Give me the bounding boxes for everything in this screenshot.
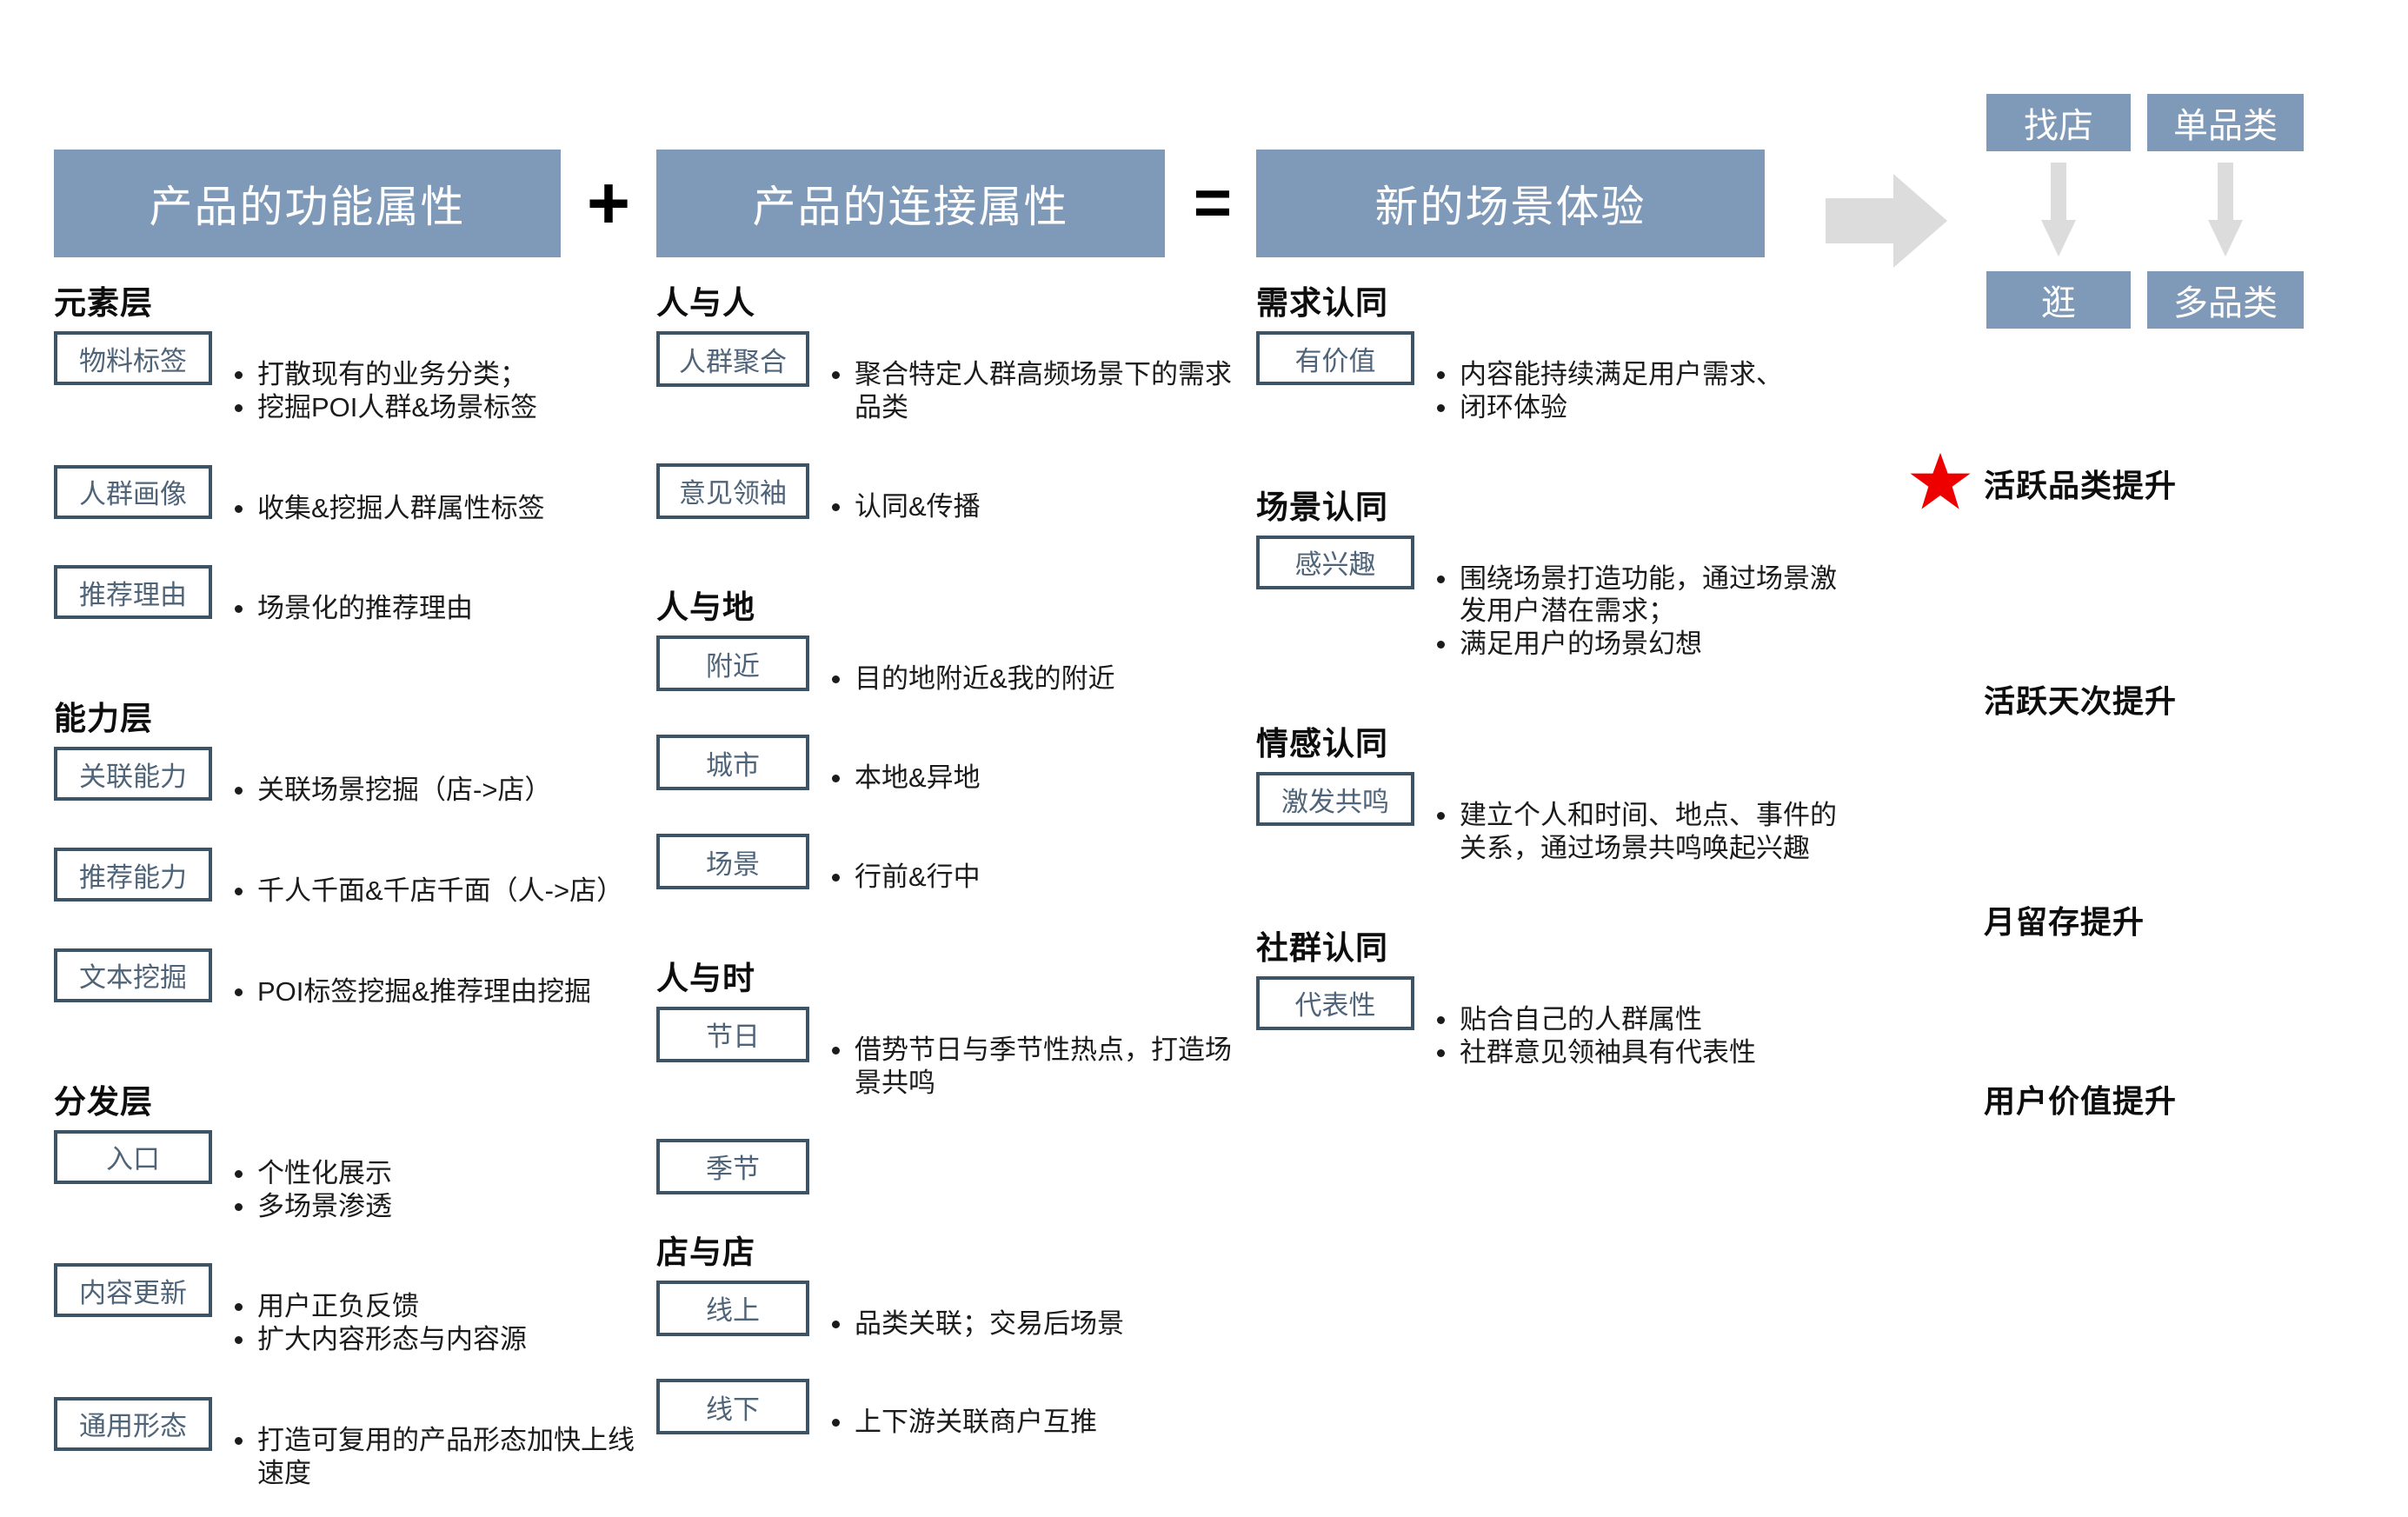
bullet-list: POI标签挖掘&推荐理由挖掘 xyxy=(228,975,591,1008)
attribute-row: 意见领袖认同&传播 xyxy=(656,463,1256,550)
tag-box[interactable]: 感兴趣 xyxy=(1256,536,1414,589)
bullet-list: 场景化的推荐理由 xyxy=(228,592,473,625)
bullet-list: 建立个人和时间、地点、事件的关系，通过场景共鸣唤起兴趣 xyxy=(1430,799,1856,865)
section-experience-0: 需求认同有价值内容能持续满足用户需求、闭环体验 xyxy=(1256,287,1856,451)
banner-new-scene-experience: 新的场景体验 xyxy=(1256,150,1765,257)
section-title: 情感认同 xyxy=(1256,728,1856,760)
diagram-canvas: 产品的功能属性 + 产品的连接属性 = 新的场景体验 元素层物料标签打散现有的业… xyxy=(0,0,2408,1328)
outcome-user-value-uplift: 用户价值提升 xyxy=(1984,1076,2177,1121)
attribute-row: 入口个性化展示多场景渗透 xyxy=(54,1130,654,1250)
section-experience-1: 场景认同感兴趣围绕场景打造功能，通过场景激发用户潜在需求；满足用户的场景幻想 xyxy=(1256,491,1856,688)
attribute-row: 城市本地&异地 xyxy=(656,735,1256,822)
attribute-row: 文本挖掘POI标签挖掘&推荐理由挖掘 xyxy=(54,948,654,1035)
bullet-item: 个性化展示 xyxy=(228,1157,392,1190)
tag-box[interactable]: 通用形态 xyxy=(54,1397,212,1451)
bullet-list: 内容能持续满足用户需求、闭环体验 xyxy=(1430,358,1783,424)
tag-box[interactable]: 人群画像 xyxy=(54,465,212,519)
flow-box-find-store[interactable]: 找店 xyxy=(1986,94,2131,151)
tag-box[interactable]: 有价值 xyxy=(1256,331,1414,385)
attribute-row: 线上品类关联；交易后场景 xyxy=(656,1281,1256,1367)
bullet-item: 满足用户的场景幻想 xyxy=(1430,628,1856,661)
down-arrow-icon-single-category xyxy=(2208,163,2243,256)
tag-box[interactable]: 人群聚合 xyxy=(656,331,809,387)
section-title: 人与时 xyxy=(656,962,1256,995)
attribute-row: 人群聚合聚合特定人群高频场景下的需求品类 xyxy=(656,331,1256,451)
attribute-row: 线下上下游关联商户互推 xyxy=(656,1379,1256,1466)
bullet-item: 社群意见领袖具有代表性 xyxy=(1430,1036,1756,1069)
attribute-row: 推荐能力千人千面&千店千面（人->店） xyxy=(54,848,654,935)
section-title: 需求认同 xyxy=(1256,287,1856,319)
bullet-item: 本地&异地 xyxy=(825,762,981,795)
tag-box[interactable]: 城市 xyxy=(656,735,809,790)
section-title: 店与店 xyxy=(656,1236,1256,1268)
column-connection-attribute: 人与人人群聚合聚合特定人群高频场景下的需求品类意见领袖认同&传播人与地附近目的地… xyxy=(656,287,1256,1466)
attribute-row: 感兴趣围绕场景打造功能，通过场景激发用户潜在需求；满足用户的场景幻想 xyxy=(1256,536,1856,688)
section-connection-1: 人与地附近目的地附近&我的附近城市本地&异地场景行前&行中 xyxy=(656,591,1256,920)
bullet-item: 千人千面&千店千面（人->店） xyxy=(228,875,623,908)
bullet-item: 收集&挖掘人群属性标签 xyxy=(228,492,545,525)
tag-box[interactable]: 文本挖掘 xyxy=(54,948,212,1002)
tag-box[interactable]: 推荐能力 xyxy=(54,848,212,902)
bullet-item: 内容能持续满足用户需求、 xyxy=(1430,358,1783,391)
bullet-list: 打散现有的业务分类；挖掘POI人群&场景标签 xyxy=(228,358,537,424)
tag-box[interactable]: 代表性 xyxy=(1256,976,1414,1030)
section-connection-2: 人与时节日借势节日与季节性热点，打造场景共鸣季节 xyxy=(656,962,1256,1194)
attribute-row: 附近目的地附近&我的附近 xyxy=(656,635,1256,722)
bullet-item: 行前&行中 xyxy=(825,861,981,894)
bullet-list: 收集&挖掘人群属性标签 xyxy=(228,492,545,525)
tag-box[interactable]: 关联能力 xyxy=(54,747,212,801)
attribute-row: 内容更新用户正负反馈扩大内容形态与内容源 xyxy=(54,1263,654,1383)
column-functional-attribute: 元素层物料标签打散现有的业务分类；挖掘POI人群&场景标签人群画像收集&挖掘人群… xyxy=(54,287,654,1517)
bullet-list: 围绕场景打造功能，通过场景激发用户潜在需求；满足用户的场景幻想 xyxy=(1430,562,1856,661)
red-star-icon xyxy=(1909,450,1972,513)
bullet-item: 关联场景挖掘（店->店） xyxy=(228,774,551,807)
section-functional-1: 能力层关联能力关联场景挖掘（店->店）推荐能力千人千面&千店千面（人->店）文本… xyxy=(54,702,654,1035)
bullet-list: 本地&异地 xyxy=(825,762,981,795)
bullet-list: 用户正负反馈扩大内容形态与内容源 xyxy=(228,1290,527,1356)
banner-functional-label: 产品的功能属性 xyxy=(150,172,466,235)
bullet-item: POI标签挖掘&推荐理由挖掘 xyxy=(228,975,591,1008)
attribute-row: 关联能力关联场景挖掘（店->店） xyxy=(54,747,654,834)
tag-box[interactable]: 入口 xyxy=(54,1130,212,1184)
bullet-item: 贴合自己的人群属性 xyxy=(1430,1003,1756,1036)
outcome-monthly-retention-uplift: 月留存提升 xyxy=(1984,897,2145,942)
bullet-item: 闭环体验 xyxy=(1430,391,1783,424)
section-title: 场景认同 xyxy=(1256,491,1856,523)
bullet-list: 借势节日与季节性热点，打造场景共鸣 xyxy=(825,1034,1256,1100)
banner-functional-attribute: 产品的功能属性 xyxy=(54,150,561,257)
bullet-list: 目的地附近&我的附近 xyxy=(825,662,1115,695)
tag-box[interactable]: 节日 xyxy=(656,1007,809,1062)
bullet-list: 上下游关联商户互推 xyxy=(825,1406,1097,1439)
section-title: 社群认同 xyxy=(1256,932,1856,964)
right-arrow-icon xyxy=(1826,174,1947,268)
tag-box[interactable]: 线上 xyxy=(656,1281,809,1336)
tag-box[interactable]: 附近 xyxy=(656,635,809,691)
section-title: 分发层 xyxy=(54,1086,654,1118)
down-arrow-icon-find-store xyxy=(2041,163,2076,256)
bullet-item: 聚合特定人群高频场景下的需求品类 xyxy=(825,358,1256,424)
bullet-item: 品类关联；交易后场景 xyxy=(825,1307,1124,1341)
tag-box[interactable]: 推荐理由 xyxy=(54,565,212,619)
attribute-row: 推荐理由场景化的推荐理由 xyxy=(54,565,654,652)
tag-box[interactable]: 物料标签 xyxy=(54,331,212,385)
bullet-list: 认同&传播 xyxy=(825,490,981,523)
flow-box-browse[interactable]: 逛 xyxy=(1986,271,2131,329)
bullet-list: 贴合自己的人群属性社群意见领袖具有代表性 xyxy=(1430,1003,1756,1069)
bullet-item: 认同&传播 xyxy=(825,490,981,523)
bullet-list: 关联场景挖掘（店->店） xyxy=(228,774,551,807)
bullet-item: 借势节日与季节性热点，打造场景共鸣 xyxy=(825,1034,1256,1100)
flow-box-multi-category[interactable]: 多品类 xyxy=(2147,271,2304,329)
attribute-row: 场景行前&行中 xyxy=(656,834,1256,921)
banner-connection-attribute: 产品的连接属性 xyxy=(656,150,1165,257)
section-title: 人与人 xyxy=(656,287,1256,319)
attribute-row: 有价值内容能持续满足用户需求、闭环体验 xyxy=(1256,331,1856,451)
tag-box[interactable]: 季节 xyxy=(656,1139,809,1194)
bullet-item: 打造可复用的产品形态加快上线速度 xyxy=(228,1424,654,1490)
attribute-row: 人群画像收集&挖掘人群属性标签 xyxy=(54,465,654,552)
outcome-active-category-uplift: 活跃品类提升 xyxy=(1984,461,2177,506)
tag-box[interactable]: 线下 xyxy=(656,1379,809,1434)
section-title: 人与地 xyxy=(656,591,1256,623)
section-functional-0: 元素层物料标签打散现有的业务分类；挖掘POI人群&场景标签人群画像收集&挖掘人群… xyxy=(54,287,654,652)
attribute-row: 物料标签打散现有的业务分类；挖掘POI人群&场景标签 xyxy=(54,331,654,451)
banner-connection-label: 产品的连接属性 xyxy=(753,172,1069,235)
tag-box[interactable]: 内容更新 xyxy=(54,1263,212,1317)
bullet-item: 目的地附近&我的附近 xyxy=(825,662,1115,695)
flow-box-single-category[interactable]: 单品类 xyxy=(2147,94,2304,151)
bullet-list: 个性化展示多场景渗透 xyxy=(228,1157,392,1223)
tag-box[interactable]: 场景 xyxy=(656,834,809,889)
column-new-scene-experience: 需求认同有价值内容能持续满足用户需求、闭环体验场景认同感兴趣围绕场景打造功能，通… xyxy=(1256,287,1856,1095)
bullet-item: 场景化的推荐理由 xyxy=(228,592,473,625)
attribute-row: 通用形态打造可复用的产品形态加快上线速度 xyxy=(54,1397,654,1517)
section-functional-2: 分发层入口个性化展示多场景渗透内容更新用户正负反馈扩大内容形态与内容源通用形态打… xyxy=(54,1086,654,1517)
tag-box[interactable]: 激发共鸣 xyxy=(1256,772,1414,826)
section-experience-2: 情感认同激发共鸣建立个人和时间、地点、事件的关系，通过场景共鸣唤起兴趣 xyxy=(1256,728,1856,892)
bullet-list: 行前&行中 xyxy=(825,861,981,894)
attribute-row: 激发共鸣建立个人和时间、地点、事件的关系，通过场景共鸣唤起兴趣 xyxy=(1256,772,1856,892)
section-connection-0: 人与人人群聚合聚合特定人群高频场景下的需求品类意见领袖认同&传播 xyxy=(656,287,1256,549)
bullet-list: 打造可复用的产品形态加快上线速度 xyxy=(228,1424,654,1490)
bullet-item: 多场景渗透 xyxy=(228,1190,392,1223)
bullet-list: 聚合特定人群高频场景下的需求品类 xyxy=(825,358,1256,424)
equals-operator-icon: = xyxy=(1178,170,1247,236)
attribute-row: 节日借势节日与季节性热点，打造场景共鸣 xyxy=(656,1007,1256,1127)
bullet-list: 千人千面&千店千面（人->店） xyxy=(228,875,623,908)
section-title: 元素层 xyxy=(54,287,654,319)
outcome-active-days-uplift: 活跃天次提升 xyxy=(1984,676,2177,722)
tag-box[interactable]: 意见领袖 xyxy=(656,463,809,519)
bullet-item: 挖掘POI人群&场景标签 xyxy=(228,391,537,424)
plus-operator-icon: + xyxy=(574,170,643,236)
attribute-row: 代表性贴合自己的人群属性社群意见领袖具有代表性 xyxy=(1256,976,1856,1096)
bullet-list: 品类关联；交易后场景 xyxy=(825,1307,1124,1341)
section-experience-3: 社群认同代表性贴合自己的人群属性社群意见领袖具有代表性 xyxy=(1256,932,1856,1096)
attribute-row: 季节 xyxy=(656,1139,1256,1194)
bullet-item: 用户正负反馈 xyxy=(228,1290,527,1323)
bullet-item: 打散现有的业务分类； xyxy=(228,358,537,391)
bullet-item: 围绕场景打造功能，通过场景激发用户潜在需求； xyxy=(1430,562,1856,629)
bullet-item: 建立个人和时间、地点、事件的关系，通过场景共鸣唤起兴趣 xyxy=(1430,799,1856,865)
banner-experience-label: 新的场景体验 xyxy=(1375,172,1646,235)
section-title: 能力层 xyxy=(54,702,654,735)
section-connection-3: 店与店线上品类关联；交易后场景线下上下游关联商户互推 xyxy=(656,1236,1256,1467)
bullet-item: 上下游关联商户互推 xyxy=(825,1406,1097,1439)
